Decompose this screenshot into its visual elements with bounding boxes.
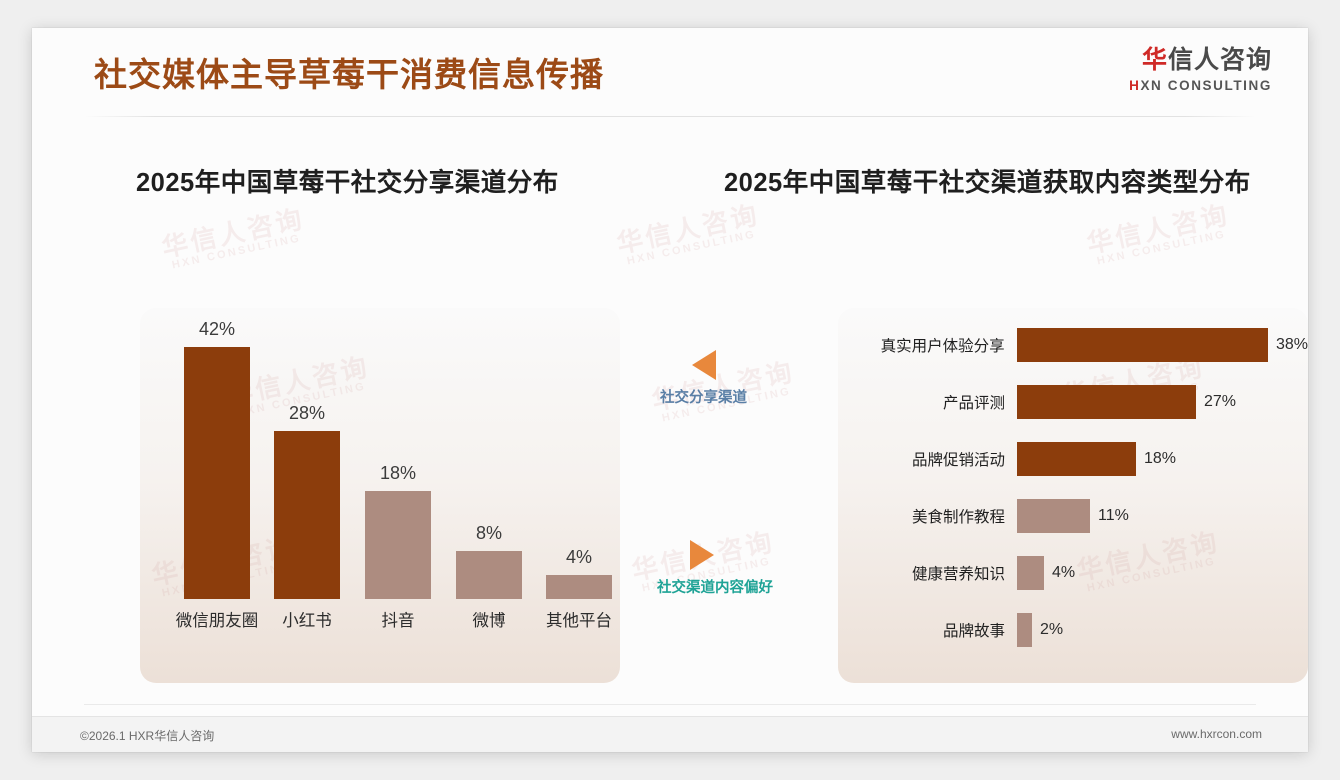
bar-value-label: 4% [566, 547, 592, 568]
vertical-bar-chart: 42% 微信朋友圈 28% 小红书 18% 抖音 8% 微博 4% 其他 [140, 308, 620, 683]
copyright-text: ©2026.1 HXR华信人咨询 [80, 727, 214, 744]
bar-category-label: 健康营养知识 [838, 562, 1017, 584]
bar-row[interactable]: 美食制作教程 11% [838, 499, 1308, 533]
bar-category-label: 品牌故事 [838, 619, 1017, 641]
annotation-label: 社交分享渠道 [660, 386, 747, 407]
watermark: 华信人咨询 HXN CONSULTING [615, 201, 765, 269]
bar-value-label: 38% [1276, 336, 1308, 354]
bar-value-label: 18% [1144, 450, 1176, 468]
bar-category-label: 真实用户体验分享 [838, 334, 1017, 356]
bar-rect[interactable] [1017, 499, 1090, 533]
website-link[interactable]: www.hxrcon.com [1171, 727, 1262, 741]
watermark-cn: 华信人咨询 [160, 205, 308, 262]
header-divider [84, 116, 1256, 117]
bar-value-label: 27% [1204, 393, 1236, 411]
bar-category-label: 美食制作教程 [838, 505, 1017, 527]
bar-rect[interactable] [184, 347, 250, 599]
slide-canvas: 华信人咨询 HXN CONSULTING 华信人咨询 HXN CONSULTIN… [32, 28, 1308, 752]
triangle-right-icon [690, 540, 714, 570]
watermark: 华信人咨询 HXN CONSULTING [1085, 201, 1235, 269]
horizontal-bar-chart: 真实用户体验分享 38% 产品评测 27% 品牌促销活动 18% 美食制作教程 … [838, 308, 1308, 683]
bar-category-label: 产品评测 [838, 391, 1017, 413]
bar-rect[interactable] [1017, 613, 1032, 647]
watermark-en: HXN CONSULTING [620, 228, 764, 269]
watermark-cn: 华信人咨询 [615, 201, 763, 258]
bar-value-label: 8% [476, 523, 502, 544]
bar-category-label: 抖音 [382, 607, 415, 631]
triangle-left-icon [692, 350, 716, 380]
annotation-content-preference: 社交渠道内容偏好 [660, 540, 773, 597]
bar-category-label: 其他平台 [546, 607, 612, 631]
logo-english: HXN CONSULTING [1129, 78, 1272, 93]
left-chart-title: 2025年中国草莓干社交分享渠道分布 [136, 162, 559, 199]
brand-logo: 华信人咨询 HXN CONSULTING [1129, 40, 1272, 93]
bar-category-label: 微信朋友圈 [176, 607, 259, 631]
watermark: 华信人咨询 HXN CONSULTING [160, 205, 310, 273]
bar-rect[interactable] [1017, 328, 1268, 362]
bar-row[interactable]: 健康营养知识 4% [838, 556, 1308, 590]
bar-column[interactable]: 4% 其他平台 [524, 308, 634, 683]
bar-value-label: 42% [199, 319, 235, 340]
bar-category-label: 品牌促销活动 [838, 448, 1017, 470]
logo-en-red: H [1129, 78, 1140, 93]
logo-chinese: 华信人咨询 [1129, 40, 1272, 76]
bar-category-label: 小红书 [282, 607, 332, 631]
bar-rect[interactable] [274, 431, 340, 599]
bar-row[interactable]: 品牌促销活动 18% [838, 442, 1308, 476]
bar-row[interactable]: 真实用户体验分享 38% [838, 328, 1308, 362]
bar-value-label: 28% [289, 403, 325, 424]
bar-value-label: 11% [1098, 507, 1129, 525]
bar-rect[interactable] [456, 551, 522, 599]
bar-value-label: 18% [380, 463, 416, 484]
annotation-social-share-channel: 社交分享渠道 [660, 350, 747, 407]
bar-value-label: 4% [1052, 564, 1075, 582]
bar-rect[interactable] [1017, 385, 1196, 419]
note-divider [84, 704, 1256, 705]
logo-cn-red: 华 [1142, 46, 1168, 74]
bar-rect[interactable] [1017, 556, 1044, 590]
bar-category-label: 微博 [473, 607, 506, 631]
slide-header: 社交媒体主导草莓干消费信息传播 华信人咨询 HXN CONSULTING [32, 28, 1308, 118]
logo-en-rest: XN CONSULTING [1140, 78, 1272, 93]
bar-rect[interactable] [546, 575, 612, 599]
bottom-bar: ©2026.1 HXR华信人咨询 www.hxrcon.com [32, 716, 1308, 752]
bar-rect[interactable] [1017, 442, 1136, 476]
bar-row[interactable]: 产品评测 27% [838, 385, 1308, 419]
watermark-en: HXN CONSULTING [165, 232, 309, 273]
bar-value-label: 2% [1040, 621, 1063, 639]
logo-cn-rest: 信人咨询 [1168, 46, 1272, 74]
watermark-en: HXN CONSULTING [1090, 228, 1234, 269]
right-chart-title: 2025年中国草莓干社交渠道获取内容类型分布 [724, 162, 1251, 199]
bar-row[interactable]: 品牌故事 2% [838, 613, 1308, 647]
page-title: 社交媒体主导草莓干消费信息传播 [94, 48, 604, 96]
annotation-label: 社交渠道内容偏好 [657, 576, 773, 597]
watermark-cn: 华信人咨询 [1085, 201, 1233, 258]
bar-rect[interactable] [365, 491, 431, 599]
